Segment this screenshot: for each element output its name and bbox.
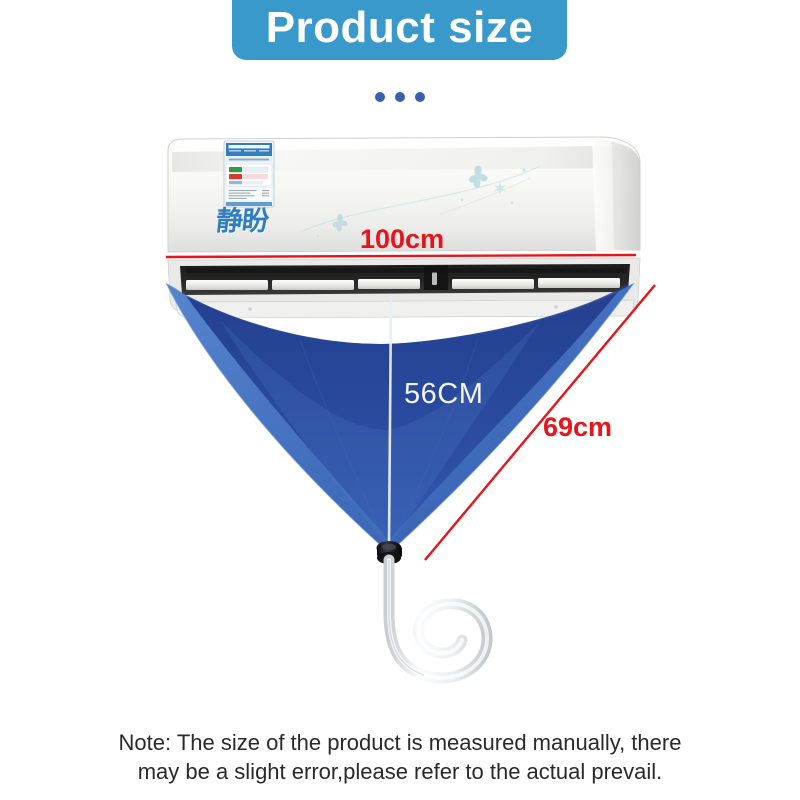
width-dimension-label: 100cm [360,226,444,253]
note-line-2: may be a slight error,please refer to th… [60,757,740,786]
width-measure-line [166,255,636,257]
brand-mark-logo: 静盼 [215,208,270,235]
note-line-1: Note: The size of the product is measure… [60,728,740,757]
energy-label-sticker [224,141,274,207]
drain-hose-assembly [377,541,488,678]
height-dimension-label: 56CM [404,380,483,409]
diagonal-dimension-label: 69cm [543,414,612,441]
product-illustration [0,0,800,800]
disclaimer-note: Note: The size of the product is measure… [0,728,800,786]
